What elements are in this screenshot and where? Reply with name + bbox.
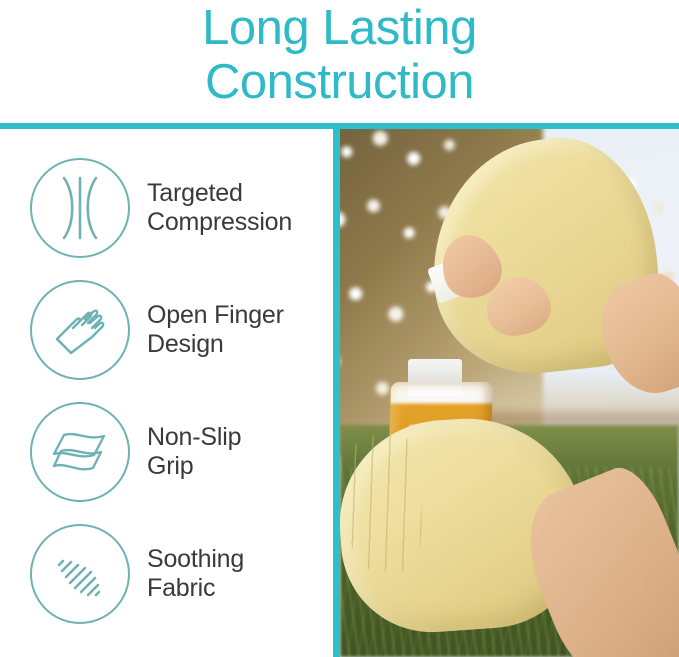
infographic-page: Long Lasting Construction Targeted Compr…: [0, 0, 679, 657]
feature-item: Open Finger Design: [0, 269, 333, 391]
photo-scene: [340, 129, 679, 657]
open-finger-glove-icon: [30, 280, 130, 380]
feature-item: Soothing Fabric: [0, 513, 333, 635]
product-photo: [340, 129, 679, 657]
feature-label-line-1: Open Finger: [147, 301, 284, 329]
vertical-divider: [333, 123, 340, 657]
feature-label-line-2: Grip: [147, 452, 193, 480]
feature-list: Targeted Compression Open F: [0, 129, 333, 657]
feature-label-line-2: Fabric: [147, 574, 215, 602]
feature-label-line-2: Compression: [147, 208, 292, 236]
feature-label-line-2: Design: [147, 330, 224, 358]
page-title-line-2: Construction: [205, 55, 474, 109]
feature-label-line-1: Non-Slip: [147, 423, 241, 451]
page-title-line-1: Long Lasting: [202, 1, 477, 55]
feature-label-line-1: Soothing: [147, 545, 244, 573]
header: Long Lasting Construction: [0, 0, 679, 123]
soothing-fabric-weave-icon: [30, 524, 130, 624]
feature-label: Non-Slip Grip: [147, 423, 241, 481]
feature-item: Non-Slip Grip: [0, 391, 333, 513]
feature-label: Open Finger Design: [147, 301, 284, 359]
feature-label: Soothing Fabric: [147, 545, 244, 603]
targeted-compression-icon: [30, 158, 130, 258]
feature-label-line-1: Targeted: [147, 179, 243, 207]
feature-item: Targeted Compression: [0, 147, 333, 269]
non-slip-fabric-sheets-icon: [30, 402, 130, 502]
feature-label: Targeted Compression: [147, 179, 292, 237]
